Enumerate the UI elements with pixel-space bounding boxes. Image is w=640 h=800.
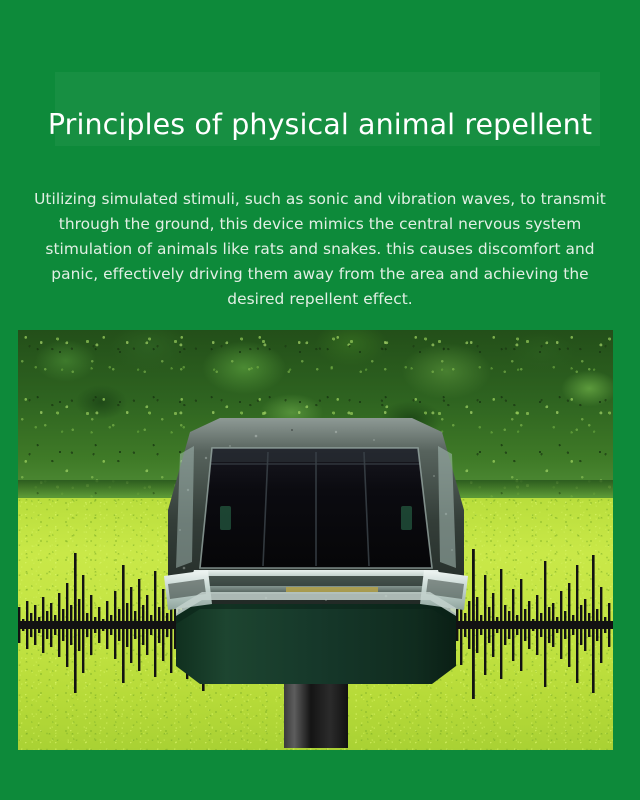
- page-description: Utilizing simulated stimuli, such as son…: [24, 187, 616, 312]
- header-section: Principles of physical animal repellent …: [0, 0, 640, 330]
- product-photo: [18, 330, 613, 750]
- footer-strip: [0, 750, 640, 800]
- photo-scene: [18, 330, 613, 750]
- repellent-device: [146, 418, 486, 748]
- product-infographic-page: Principles of physical animal repellent …: [0, 0, 640, 800]
- page-title: Principles of physical animal repellent: [0, 105, 640, 145]
